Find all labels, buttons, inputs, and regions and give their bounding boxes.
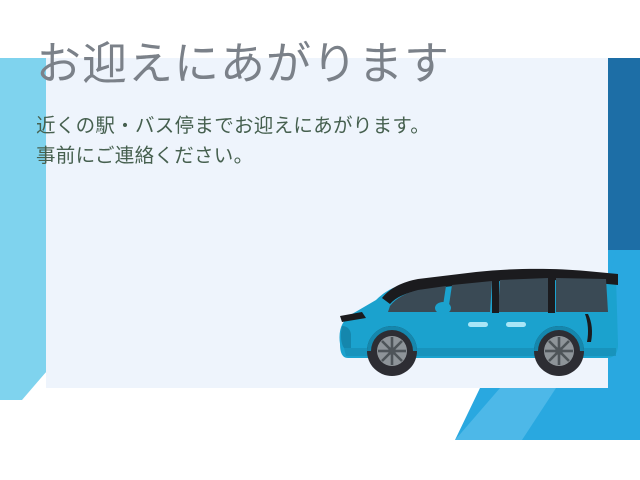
page-title: お迎えにあがります xyxy=(36,40,546,89)
rear-quarter-window-icon xyxy=(556,278,608,312)
body-line-1: 近くの駅・バス停までお迎えにあがります。 xyxy=(36,111,546,141)
minivan-illustration xyxy=(330,252,620,392)
c-pillar-icon xyxy=(548,278,555,313)
front-door-window-icon xyxy=(448,281,492,312)
rear-door-handle-icon xyxy=(506,322,526,327)
body-line-2: 事前にご連絡ください。 xyxy=(36,141,546,171)
text-block: お迎えにあがります 近くの駅・バス停までお迎えにあがります。 事前にご連絡くださ… xyxy=(36,40,546,171)
body-text: 近くの駅・バス停までお迎えにあがります。 事前にご連絡ください。 xyxy=(36,111,546,171)
b-pillar-icon xyxy=(492,280,499,313)
sliding-door-window-icon xyxy=(498,278,548,312)
front-door-handle-icon xyxy=(468,322,488,327)
promo-banner: お迎えにあがります 近くの駅・バス停までお迎えにあがります。 事前にご連絡くださ… xyxy=(0,0,640,480)
side-mirror-icon xyxy=(435,302,451,314)
